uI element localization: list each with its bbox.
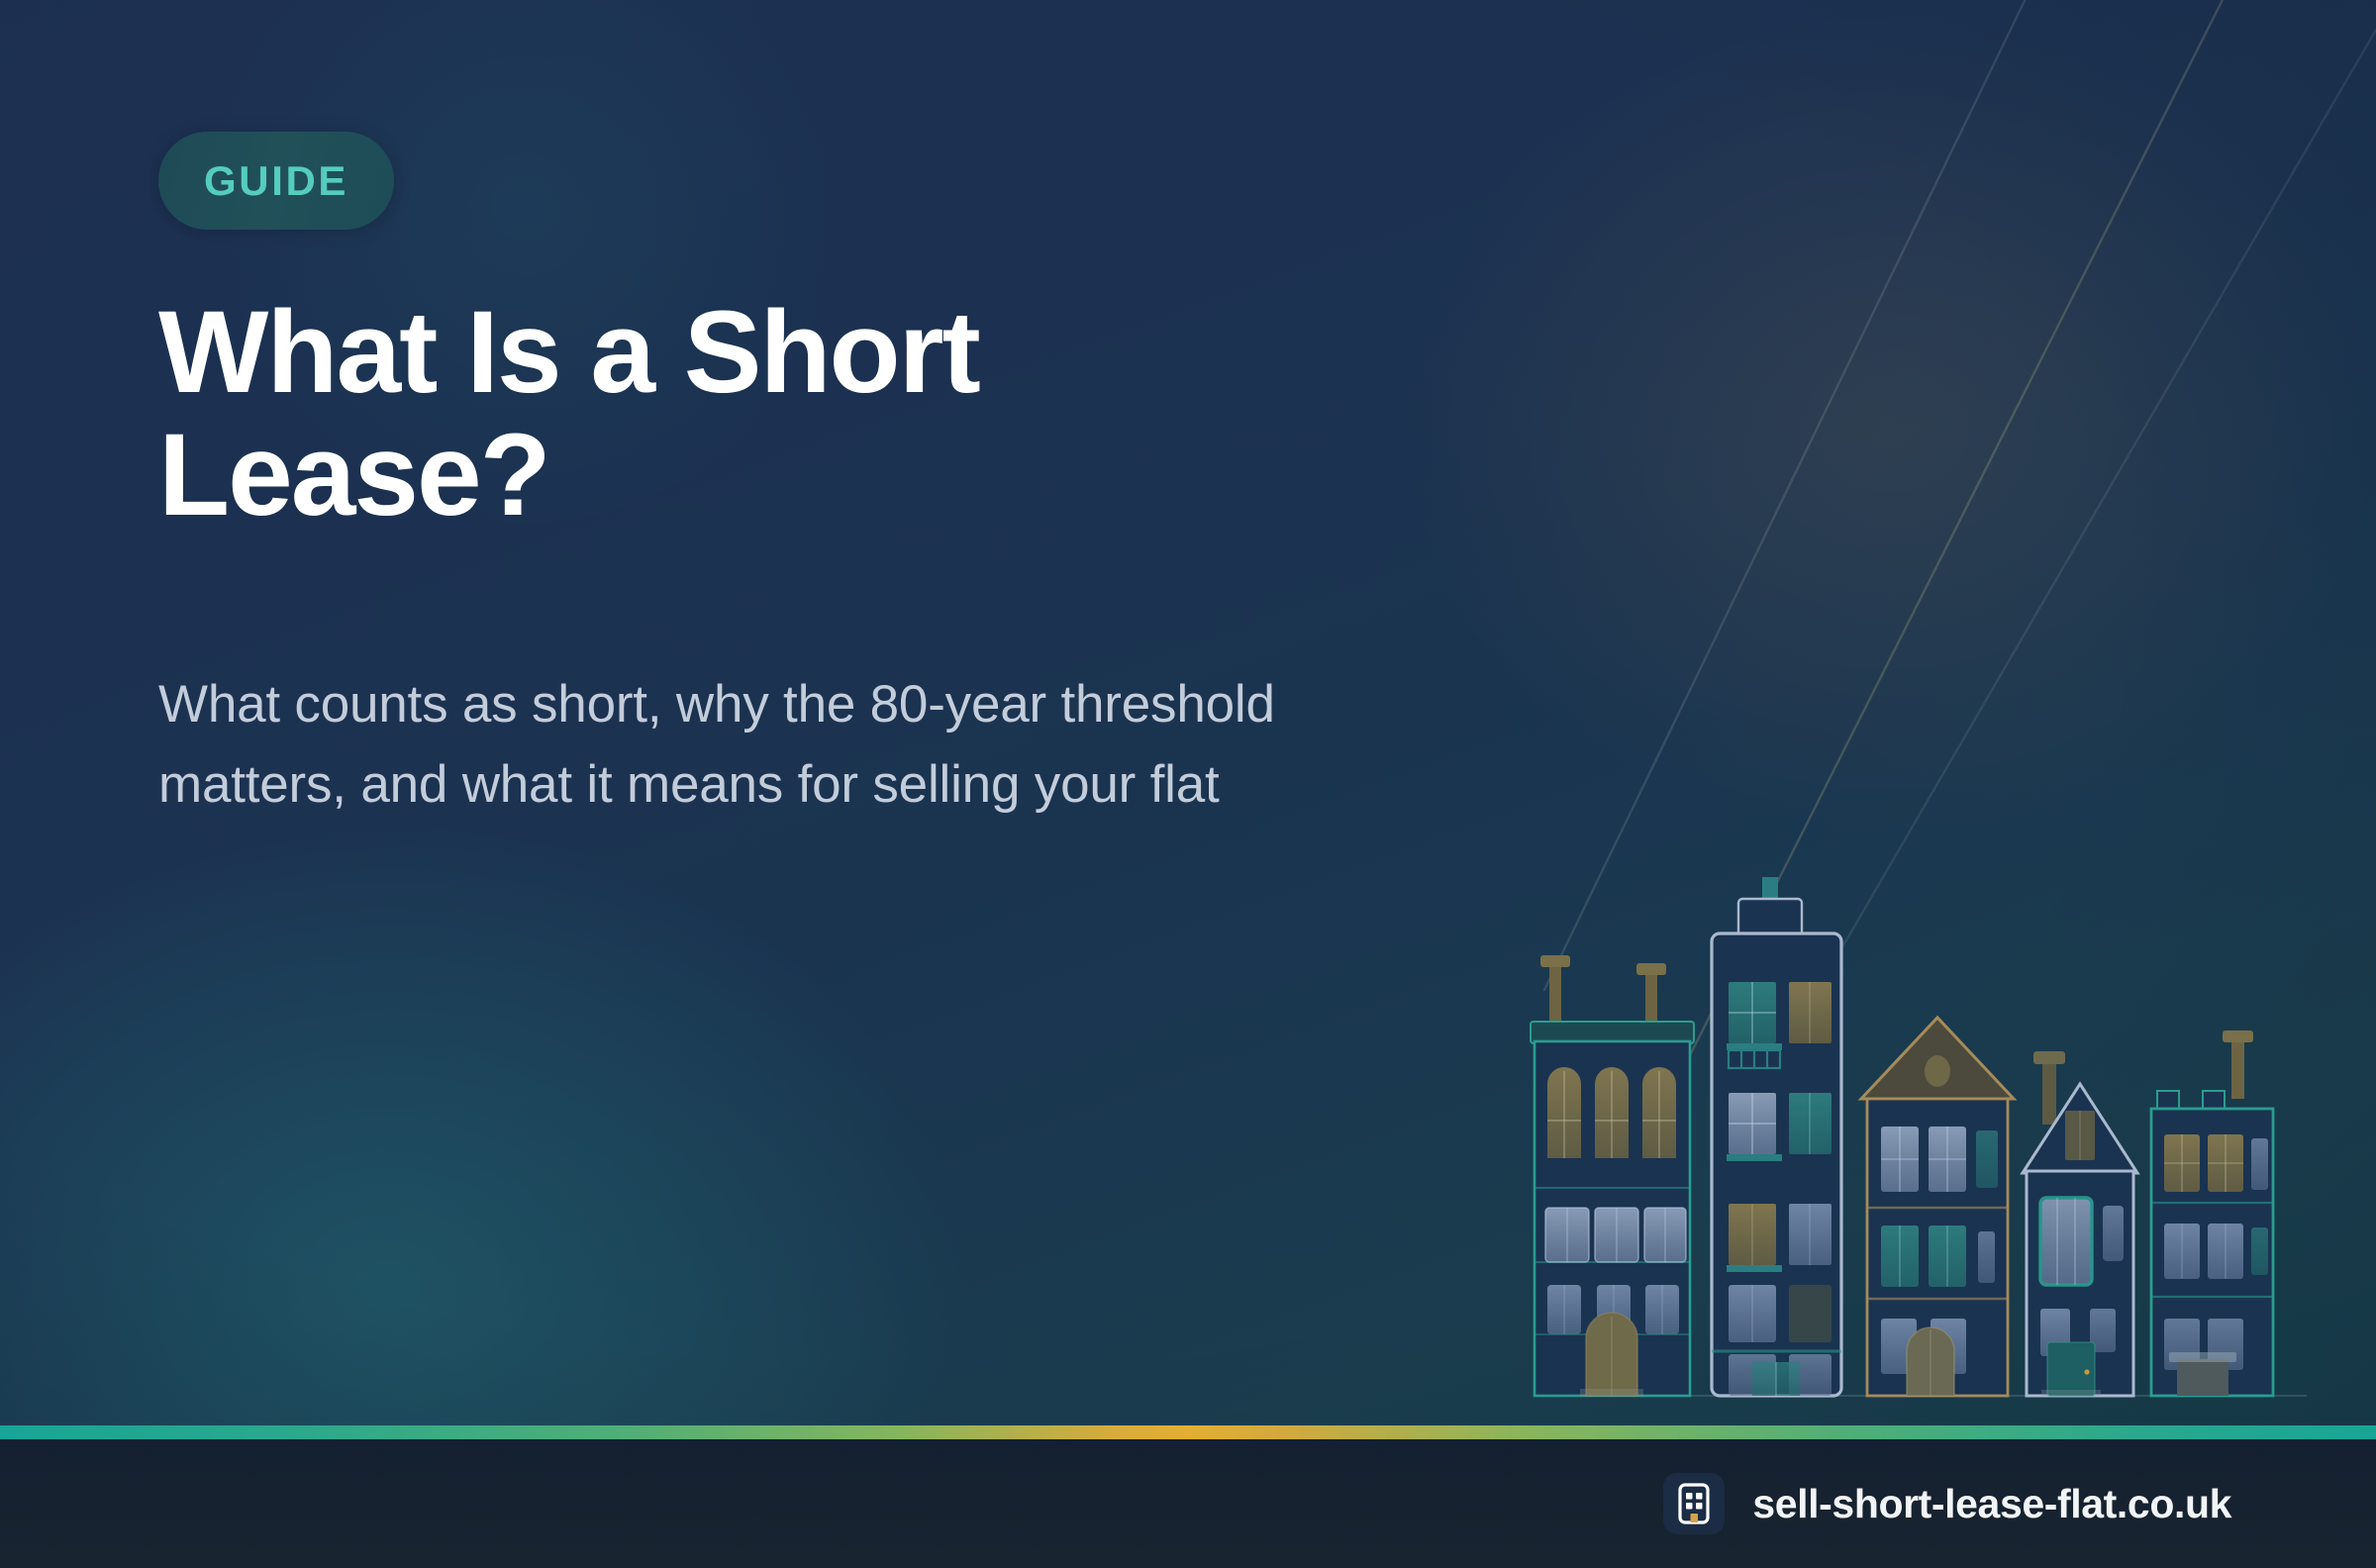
building-logo-icon bbox=[1663, 1473, 1725, 1534]
page-title: What Is a Short Lease? bbox=[158, 292, 1327, 538]
accent-gradient-bar bbox=[0, 1425, 2376, 1439]
hero-card-canvas: GUIDE What Is a Short Lease? What counts… bbox=[0, 0, 2376, 1568]
page-subtitle: What counts as short, why the 80-year th… bbox=[158, 665, 1435, 825]
guide-badge: GUIDE bbox=[158, 132, 394, 230]
footer-bar: sell-short-lease-flat.co.uk bbox=[0, 1439, 2376, 1568]
footer-brand: sell-short-lease-flat.co.uk bbox=[1663, 1473, 2231, 1534]
guide-badge-label: GUIDE bbox=[204, 157, 348, 205]
footer-url-label: sell-short-lease-flat.co.uk bbox=[1752, 1481, 2231, 1527]
